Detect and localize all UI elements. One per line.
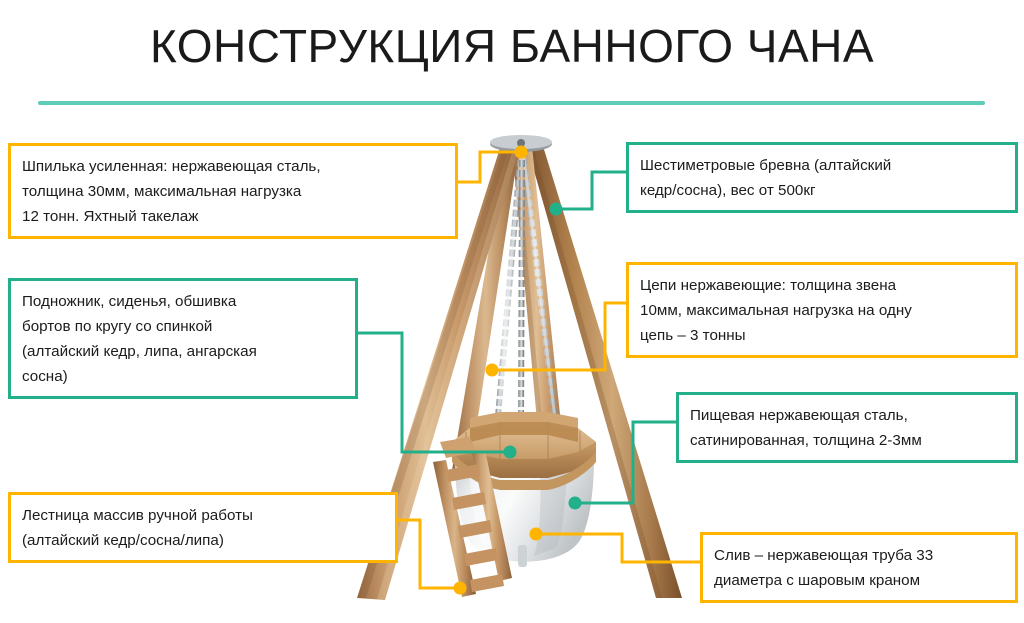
leader-seats — [358, 333, 517, 459]
callout-ladder-line-2: (алтайский кедр/сосна/липа) — [22, 528, 384, 553]
callout-steel-line-1: Пищевая нержавеющая сталь, — [690, 403, 1004, 428]
callout-steel-line-2: сатинированная, толщина 2-3мм — [690, 428, 1004, 453]
callout-seats-line-2: бортов по кругу со спинкой — [22, 314, 344, 339]
callout-steel[interactable]: Пищевая нержавеющая сталь, сатинированна… — [676, 392, 1018, 463]
leader-drain — [530, 528, 701, 563]
leader-chains — [486, 303, 627, 377]
callout-stud[interactable]: Шпилька усиленная: нержавеющая сталь, то… — [8, 143, 458, 239]
callout-logs-line-1: Шестиметровые бревна (алтайский — [640, 153, 1004, 178]
callout-stud-line-2: толщина 30мм, максимальная нагрузка — [22, 179, 444, 204]
callout-ladder-line-1: Лестница массив ручной работы — [22, 503, 384, 528]
callout-stud-line-1: Шпилька усиленная: нержавеющая сталь, — [22, 154, 444, 179]
callout-chains-line-3: цепь – 3 тонны — [640, 323, 1004, 348]
callout-stud-line-3: 12 тонн. Яхтный такелаж — [22, 204, 444, 229]
callout-seats[interactable]: Подножник, сиденья, обшивка бортов по кр… — [8, 278, 358, 399]
callout-logs-line-2: кедр/сосна), вес от 500кг — [640, 178, 1004, 203]
leader-logs — [550, 172, 627, 216]
callout-chains-line-2: 10мм, максимальная нагрузка на одну — [640, 298, 1004, 323]
leader-stud — [458, 146, 528, 183]
callout-seats-line-3: (алтайский кедр, липа, ангарская — [22, 339, 344, 364]
callout-chains-line-1: Цепи нержавеющие: толщина звена — [640, 273, 1004, 298]
leader-ladder — [398, 520, 467, 595]
leader-steel — [569, 422, 677, 510]
callout-chains[interactable]: Цепи нержавеющие: толщина звена 10мм, ма… — [626, 262, 1018, 358]
callout-drain[interactable]: Слив – нержавеющая труба 33 диаметра с ш… — [700, 532, 1018, 603]
callout-ladder[interactable]: Лестница массив ручной работы (алтайский… — [8, 492, 398, 563]
callout-drain-line-1: Слив – нержавеющая труба 33 — [714, 543, 1004, 568]
callout-seats-line-4: сосна) — [22, 364, 344, 389]
callout-logs[interactable]: Шестиметровые бревна (алтайский кедр/сос… — [626, 142, 1018, 213]
callout-seats-line-1: Подножник, сиденья, обшивка — [22, 289, 344, 314]
infographic-canvas: КОНСТРУКЦИЯ БАННОГО ЧАНА — [0, 0, 1024, 623]
callout-drain-line-2: диаметра с шаровым краном — [714, 568, 1004, 593]
